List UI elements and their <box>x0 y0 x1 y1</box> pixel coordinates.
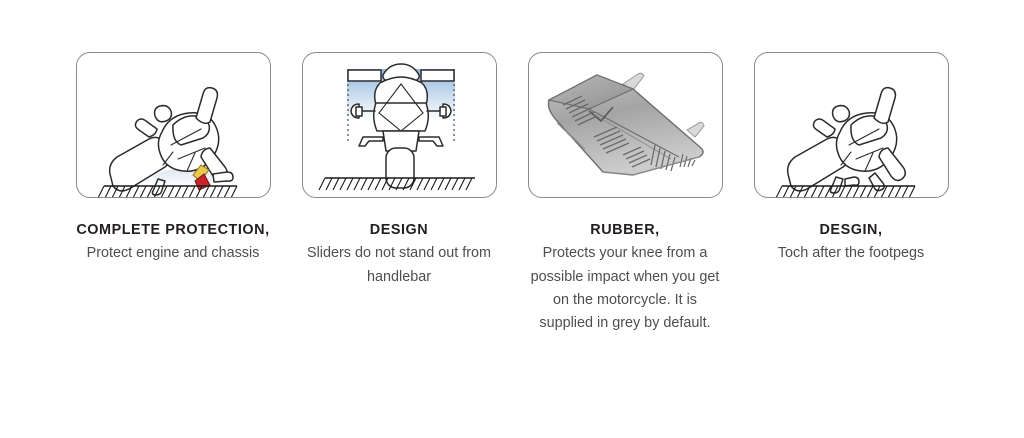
illustration-frame-1 <box>76 52 271 198</box>
illustration-frame-4 <box>754 52 949 198</box>
caption-block-3: RUBBER, Protects your knee from a possib… <box>525 219 725 336</box>
feature-description: Toch after the footpegs <box>751 242 951 265</box>
feature-card-desgin: DESGIN, Toch after the footpegs <box>738 52 964 266</box>
feature-card-complete-protection: COMPLETE PROTECTION, Protect engine and … <box>60 52 286 266</box>
rubber-knee-slider-icon <box>529 53 723 198</box>
features-grid: COMPLETE PROTECTION, Protect engine and … <box>0 0 1024 438</box>
motorcycle-crash-slider-icon <box>77 53 271 198</box>
feature-description: Protect engine and chassis <box>73 242 273 265</box>
illustration-frame-3 <box>528 52 723 198</box>
motorcycle-footpeg-icon <box>755 53 949 198</box>
caption-block-2: DESIGN Sliders do not stand out from han… <box>299 219 499 289</box>
caption-block-1: COMPLETE PROTECTION, Protect engine and … <box>73 219 273 266</box>
feature-heading: DESIGN <box>299 219 499 241</box>
feature-card-rubber: RUBBER, Protects your knee from a possib… <box>512 52 738 336</box>
caption-block-4: DESGIN, Toch after the footpegs <box>751 219 951 266</box>
motorcycle-front-view-icon <box>303 53 497 198</box>
illustration-frame-2 <box>302 52 497 198</box>
feature-description: Sliders do not stand out from handlebar <box>299 242 499 289</box>
feature-heading: COMPLETE PROTECTION, <box>73 219 273 241</box>
feature-card-design: DESIGN Sliders do not stand out from han… <box>286 52 512 289</box>
feature-heading: RUBBER, <box>525 219 725 241</box>
feature-description: Protects your knee from a possible impac… <box>525 242 725 335</box>
feature-heading: DESGIN, <box>751 219 951 241</box>
